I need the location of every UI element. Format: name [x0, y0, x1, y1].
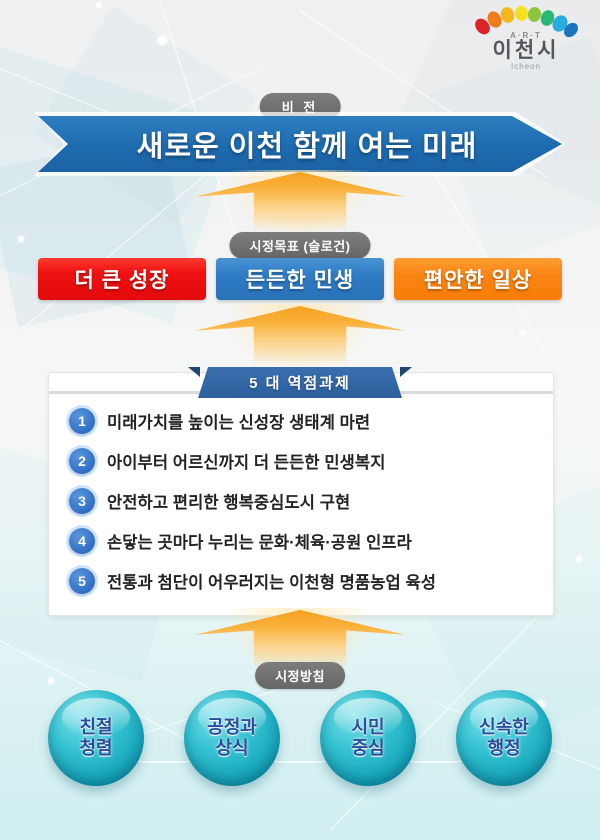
principle-line-2: 상식	[215, 738, 248, 759]
network-node	[48, 678, 54, 684]
network-line	[419, 150, 547, 354]
slogan-chip-daily-life[interactable]: 편안한 일상	[394, 258, 562, 300]
task-row[interactable]: 1 미래가치를 높이는 신성장 생태계 마련	[69, 401, 541, 441]
task-label: 아이부터 어르신까지 더 든든한 민생복지	[107, 449, 386, 473]
slogan-chip-welfare[interactable]: 든든한 민생	[216, 258, 384, 300]
task-label: 전통과 첨단이 어우러지는 이천형 명품농업 육성	[107, 569, 436, 593]
principles-pill-label: 시정방침	[255, 662, 345, 689]
task-row[interactable]: 3 안전하고 편리한 행복중심도시 구현	[69, 481, 541, 521]
network-line	[20, 163, 220, 331]
network-node	[96, 2, 102, 8]
vision-headline: 새로운 이천 함께 여는 미래	[123, 123, 478, 165]
principle-line-1: 시민	[351, 717, 384, 738]
logo-english-name: Icheon	[470, 62, 582, 71]
principle-sphere-fairness[interactable]: 공정과 상식	[184, 690, 280, 786]
principle-sphere-prompt-administration[interactable]: 신속한 행정	[456, 690, 552, 786]
slogan-chip-row: 더 큰 성장 든든한 민생 편안한 일상	[38, 258, 562, 300]
network-node	[576, 556, 582, 562]
logo-arc	[470, 6, 582, 32]
task-number-badge: 5	[69, 568, 95, 594]
network-node	[520, 330, 526, 336]
network-node	[158, 36, 167, 45]
principle-sphere-citizen-centered[interactable]: 시민 중심	[320, 690, 416, 786]
slogan-pill-label: 시정목표 (슬로건)	[230, 232, 371, 259]
task-row[interactable]: 2 아이부터 어르신까지 더 든든한 민생복지	[69, 441, 541, 481]
city-logo: A·R·T 이천시 Icheon	[470, 6, 582, 72]
logo-dot	[515, 6, 528, 21]
slogan-chip-growth[interactable]: 더 큰 성장	[38, 258, 206, 300]
tasks-card: 1 미래가치를 높이는 신성장 생태계 마련 2 아이부터 어르신까지 더 든든…	[48, 372, 554, 616]
task-label: 안전하고 편리한 행복중심도시 구현	[107, 489, 350, 513]
principle-line-1: 공정과	[207, 717, 257, 738]
infographic-poster: A·R·T 이천시 Icheon 비 전 새로운 이천 함께 여는 미래 시정목…	[0, 0, 600, 840]
task-number-badge: 3	[69, 488, 95, 514]
principle-line-2: 청렴	[79, 738, 112, 759]
task-number-badge: 4	[69, 528, 95, 554]
task-label: 미래가치를 높이는 신성장 생태계 마련	[107, 409, 370, 433]
principle-line-1: 친절	[79, 717, 112, 738]
network-node	[18, 236, 24, 242]
vision-banner: 새로운 이천 함께 여는 미래	[38, 116, 562, 172]
principle-line-1: 신속한	[479, 717, 529, 738]
principle-sphere-kindness[interactable]: 친절 청렴	[48, 690, 144, 786]
logo-korean-name: 이천시	[470, 40, 582, 62]
task-label: 손닿는 곳마다 누리는 문화·체육·공원 인프라	[107, 529, 412, 553]
tasks-list: 1 미래가치를 높이는 신성장 생태계 마련 2 아이부터 어르신까지 더 든든…	[69, 401, 541, 601]
task-number-badge: 1	[69, 408, 95, 434]
principle-line-2: 중심	[351, 738, 384, 759]
task-number-badge: 2	[69, 448, 95, 474]
principles-row: 친절 청렴 공정과 상식 시민 중심 신속한 행정	[48, 690, 552, 786]
task-row[interactable]: 5 전통과 첨단이 어우러지는 이천형 명품농업 육성	[69, 561, 541, 601]
principle-line-2: 행정	[487, 738, 520, 759]
tasks-ribbon-label: 5 대 역점과제	[198, 367, 402, 398]
task-row[interactable]: 4 손닿는 곳마다 누리는 문화·체육·공원 인프라	[69, 521, 541, 561]
